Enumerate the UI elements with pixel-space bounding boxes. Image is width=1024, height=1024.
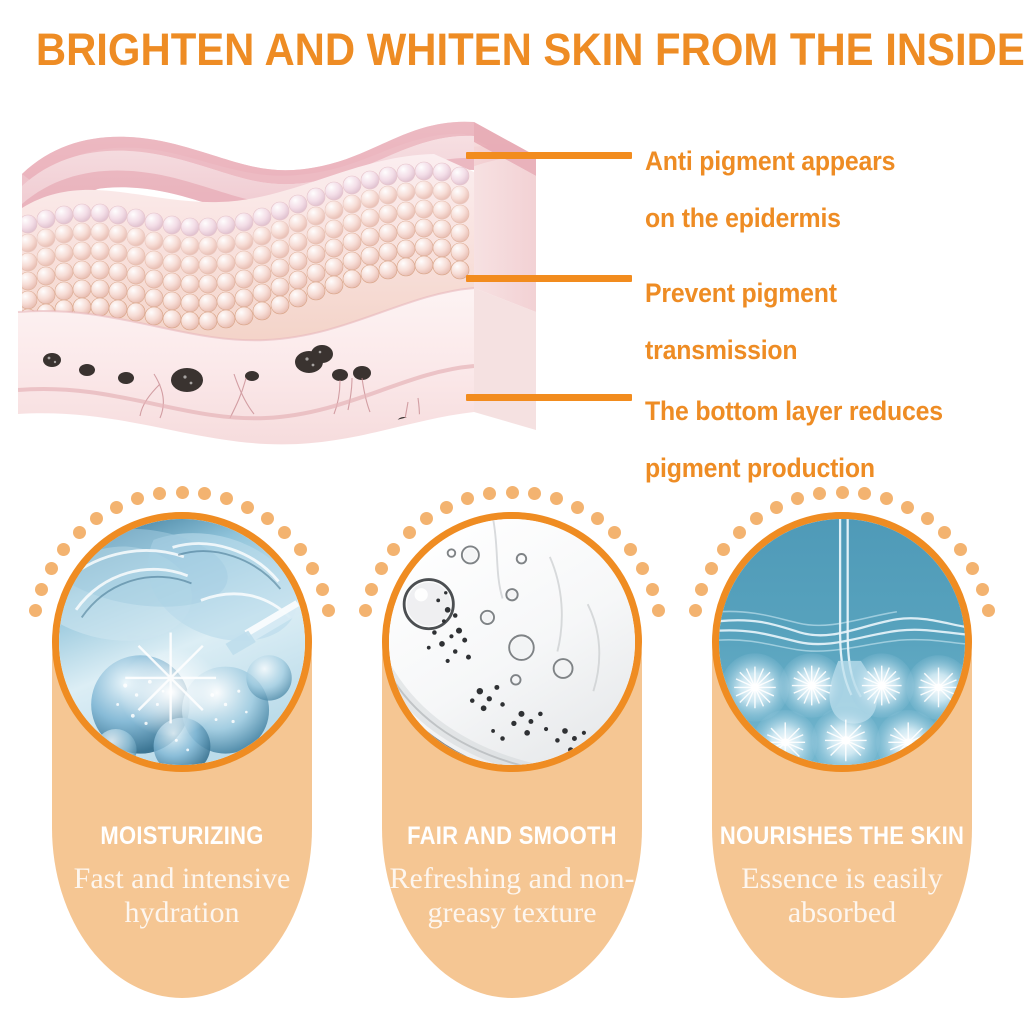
callout-1-line-2: on the epidermis bbox=[645, 204, 895, 233]
decorative-dot bbox=[483, 487, 496, 500]
card-moisturizing[interactable]: MOISTURIZING Fast and intensive hydratio… bbox=[32, 470, 332, 1000]
decorative-dot bbox=[921, 512, 934, 525]
card-desc-nourishes-the-skin: Essence is easily absorbed bbox=[700, 862, 984, 929]
decorative-dot bbox=[322, 604, 335, 617]
decorative-dot bbox=[57, 543, 70, 556]
decorative-dot bbox=[880, 492, 893, 505]
infographic-page: BRIGHTEN AND WHITEN SKIN FROM THE INSIDE… bbox=[0, 0, 1024, 1024]
decorative-dot bbox=[306, 562, 319, 575]
decorative-dot bbox=[976, 583, 989, 596]
decorative-dot bbox=[689, 604, 702, 617]
card-image-nourishes-the-skin bbox=[712, 512, 972, 772]
card-desc-fair-and-smooth: Refreshing and non-greasy texture bbox=[370, 862, 654, 929]
decorative-dot bbox=[73, 526, 86, 539]
card-desc-moisturizing: Fast and intensive hydration bbox=[40, 862, 324, 929]
decorative-dot bbox=[901, 501, 914, 514]
decorative-dot bbox=[153, 487, 166, 500]
decorative-dot bbox=[90, 512, 103, 525]
card-image-moisturizing bbox=[52, 512, 312, 772]
decorative-dot bbox=[695, 583, 708, 596]
decorative-dot bbox=[705, 562, 718, 575]
decorative-dot bbox=[571, 501, 584, 514]
card-image-fair-and-smooth bbox=[382, 512, 642, 772]
decorative-dot bbox=[403, 526, 416, 539]
card-heading-fair-and-smooth: FAIR AND SMOOTH bbox=[380, 822, 644, 851]
decorative-dot bbox=[791, 492, 804, 505]
leader-line-3 bbox=[466, 394, 632, 401]
callout-2-line-1: Prevent pigment bbox=[645, 279, 837, 308]
decorative-dot bbox=[440, 501, 453, 514]
decorative-dot bbox=[420, 512, 433, 525]
callout-1-line-1: Anti pigment appears bbox=[645, 147, 895, 176]
card-nourishes-the-skin[interactable]: NOURISHES THE SKIN Essence is easily abs… bbox=[692, 470, 992, 1000]
decorative-dot bbox=[35, 583, 48, 596]
decorative-dot bbox=[176, 486, 189, 499]
decorative-dot bbox=[858, 487, 871, 500]
card-heading-moisturizing: MOISTURIZING bbox=[50, 822, 314, 851]
decorative-dot bbox=[506, 486, 519, 499]
decorative-dot bbox=[359, 604, 372, 617]
callout-1: Anti pigment appears on the epidermis bbox=[645, 118, 895, 261]
card-fair-and-smooth[interactable]: FAIR AND SMOOTH Refreshing and non-greas… bbox=[362, 470, 662, 1000]
decorative-dot bbox=[278, 526, 291, 539]
decorative-dot bbox=[220, 492, 233, 505]
decorative-dot bbox=[813, 487, 826, 500]
decorative-dot bbox=[652, 604, 665, 617]
decorative-dot bbox=[836, 486, 849, 499]
leader-line-2 bbox=[466, 275, 632, 282]
skin-diagram bbox=[4, 112, 564, 452]
leader-line-1 bbox=[466, 152, 632, 159]
decorative-dot bbox=[375, 562, 388, 575]
decorative-dot bbox=[550, 492, 563, 505]
decorative-dot bbox=[608, 526, 621, 539]
decorative-dot bbox=[954, 543, 967, 556]
decorative-dot bbox=[110, 501, 123, 514]
decorative-dot bbox=[966, 562, 979, 575]
decorative-dot bbox=[770, 501, 783, 514]
decorative-dot bbox=[733, 526, 746, 539]
decorative-dot bbox=[29, 604, 42, 617]
decorative-dot bbox=[528, 487, 541, 500]
decorative-dot bbox=[365, 583, 378, 596]
decorative-dot bbox=[636, 562, 649, 575]
decorative-dot bbox=[45, 562, 58, 575]
decorative-dot bbox=[198, 487, 211, 500]
decorative-dot bbox=[717, 543, 730, 556]
decorative-dot bbox=[646, 583, 659, 596]
callout-2-line-2: transmission bbox=[645, 336, 837, 365]
decorative-dot bbox=[750, 512, 763, 525]
decorative-dot bbox=[261, 512, 274, 525]
decorative-dot bbox=[387, 543, 400, 556]
decorative-dot bbox=[131, 492, 144, 505]
decorative-dot bbox=[294, 543, 307, 556]
decorative-dot bbox=[982, 604, 995, 617]
decorative-dot bbox=[938, 526, 951, 539]
decorative-dot bbox=[624, 543, 637, 556]
decorative-dot bbox=[461, 492, 474, 505]
callout-3-line-1: The bottom layer reduces bbox=[645, 397, 943, 426]
decorative-dot bbox=[316, 583, 329, 596]
card-heading-nourishes-the-skin: NOURISHES THE SKIN bbox=[710, 822, 974, 851]
decorative-dot bbox=[241, 501, 254, 514]
page-title: BRIGHTEN AND WHITEN SKIN FROM THE INSIDE… bbox=[36, 26, 988, 73]
benefit-cards: MOISTURIZING Fast and intensive hydratio… bbox=[0, 470, 1024, 1024]
decorative-dot bbox=[591, 512, 604, 525]
